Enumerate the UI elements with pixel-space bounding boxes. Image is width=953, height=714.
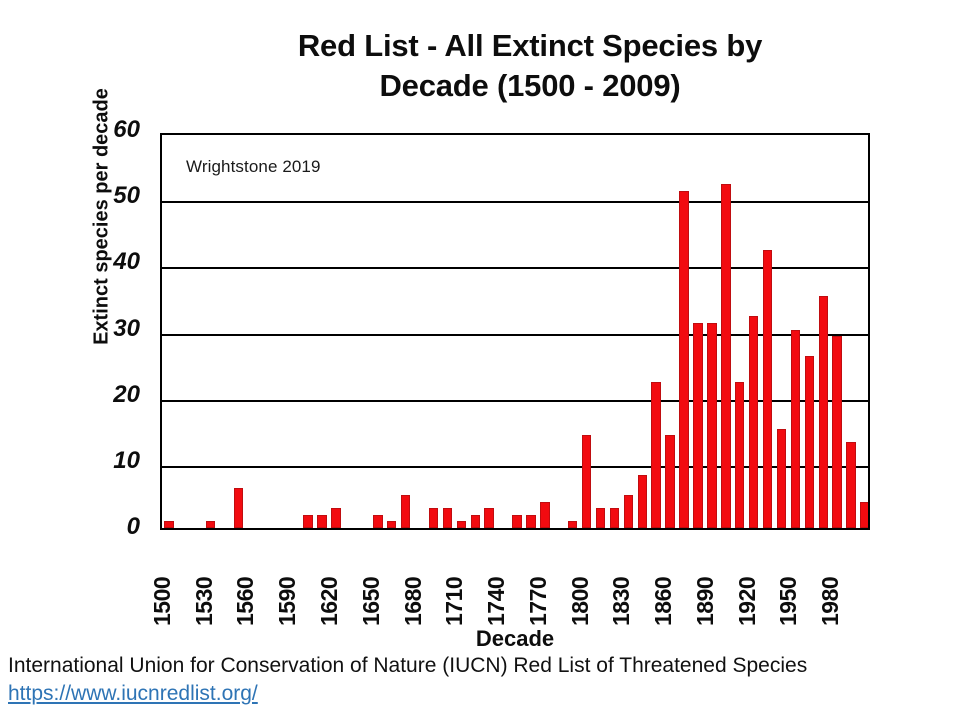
x-axis-tick-1890: 1890: [692, 577, 719, 626]
bar-2000: [860, 502, 869, 528]
y-axis-tick-10: 10: [88, 447, 140, 475]
bar-1860: [665, 435, 674, 528]
bar-1890: [707, 323, 716, 528]
bar-1550: [234, 488, 243, 528]
x-axis-tick-1920: 1920: [734, 577, 761, 626]
bar-1840: [638, 475, 647, 528]
chart-title: Red List - All Extinct Species by Decade…: [150, 26, 910, 105]
x-axis-tick-1860: 1860: [650, 577, 677, 626]
bar-1990: [846, 442, 855, 528]
chart-title-line-1: Red List - All Extinct Species by: [150, 26, 910, 66]
x-axis-tick-1770: 1770: [525, 577, 552, 626]
plot-area: Wrightstone 2019: [160, 133, 870, 530]
bar-1600: [303, 515, 312, 528]
x-axis-tick-1560: 1560: [232, 577, 259, 626]
bar-1940: [777, 429, 786, 528]
y-axis-tick-0: 0: [88, 513, 140, 541]
bar-1800: [582, 435, 591, 528]
y-axis-tick-40: 40: [88, 248, 140, 276]
y-axis-tick-60: 60: [88, 116, 140, 144]
bar-1660: [387, 521, 396, 528]
x-axis-tick-1830: 1830: [608, 577, 635, 626]
source-attribution: International Union for Conservation of …: [8, 654, 807, 678]
bar-series: [162, 135, 868, 528]
x-axis-tick-1950: 1950: [775, 577, 802, 626]
bar-1830: [624, 495, 633, 528]
bar-1770: [540, 502, 549, 528]
bar-1750: [512, 515, 521, 528]
bar-1760: [526, 515, 535, 528]
x-axis-tick-1680: 1680: [400, 577, 427, 626]
x-axis-tick-1650: 1650: [358, 577, 385, 626]
bar-1980: [832, 336, 841, 528]
y-axis-tick-50: 50: [88, 182, 140, 210]
bar-1820: [610, 508, 619, 528]
bar-1690: [429, 508, 438, 528]
x-axis-tick-1530: 1530: [191, 577, 218, 626]
bar-1710: [457, 521, 466, 528]
chart-root: Red List - All Extinct Species by Decade…: [0, 0, 953, 714]
bar-1810: [596, 508, 605, 528]
bar-1880: [693, 323, 702, 528]
x-axis-tick-1590: 1590: [274, 577, 301, 626]
x-axis-tick-labels: 1500153015601590162016501680171017401770…: [160, 534, 870, 626]
x-axis-tick-1500: 1500: [149, 577, 176, 626]
bar-1650: [373, 515, 382, 528]
bar-1910: [735, 382, 744, 528]
x-axis-tick-1740: 1740: [483, 577, 510, 626]
chart-title-line-2: Decade (1500 - 2009): [150, 66, 910, 106]
x-axis-tick-1980: 1980: [817, 577, 844, 626]
bar-1610: [317, 515, 326, 528]
bar-1960: [805, 356, 814, 528]
x-axis-tick-1710: 1710: [441, 577, 468, 626]
bar-1970: [819, 296, 828, 528]
y-axis-tick-labels: 0102030405060: [88, 128, 140, 532]
bar-1670: [401, 495, 410, 528]
source-url-link[interactable]: https://www.iucnredlist.org/: [8, 682, 258, 706]
bar-1870: [679, 191, 688, 528]
bar-1790: [568, 521, 577, 528]
bar-1500: [164, 521, 173, 528]
bar-1530: [206, 521, 215, 528]
bar-1850: [651, 382, 660, 528]
bar-1730: [484, 508, 493, 528]
bar-1930: [763, 250, 772, 528]
y-axis-tick-30: 30: [88, 315, 140, 343]
x-axis-tick-1800: 1800: [567, 577, 594, 626]
bar-1620: [331, 508, 340, 528]
y-axis-tick-20: 20: [88, 381, 140, 409]
bar-1920: [749, 316, 758, 528]
bar-1900: [721, 184, 730, 528]
bar-1720: [471, 515, 480, 528]
bar-1950: [791, 330, 800, 529]
x-axis-tick-1620: 1620: [316, 577, 343, 626]
bar-1700: [443, 508, 452, 528]
x-axis-title: Decade: [160, 626, 870, 652]
